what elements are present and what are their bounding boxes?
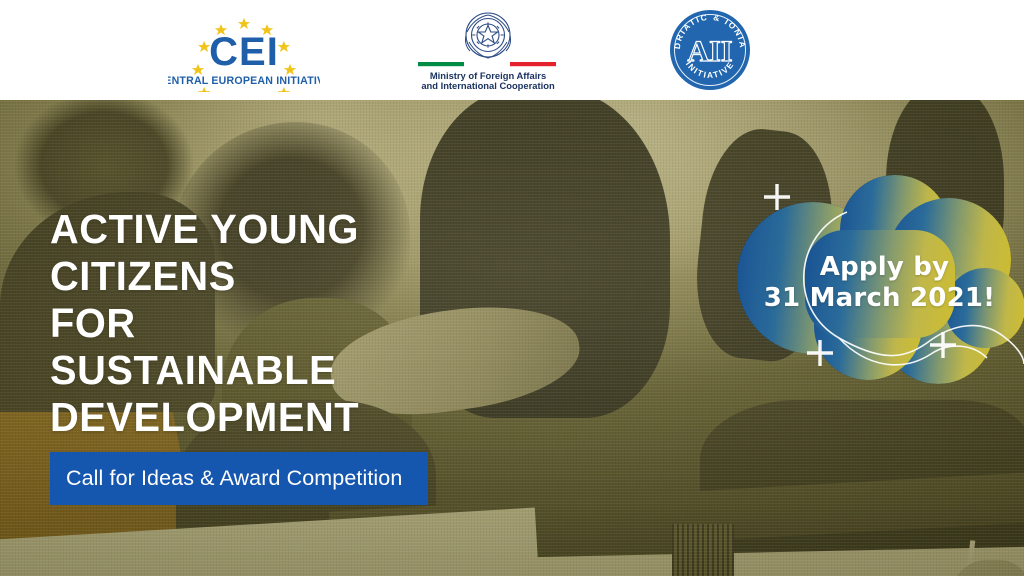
cei-acronym: CEI [209, 30, 279, 74]
adriatic-ionian-initiative-logo: ADRIATIC & IONIAN INITIATIVE AII [655, 0, 765, 100]
cei-logo-graphic: CEI CENTRAL EUROPEAN INITIATIVE [168, 8, 320, 92]
headline-line-2: CITIZENS [50, 253, 359, 300]
italian-republic-emblem [466, 13, 511, 58]
headline-line-4: SUSTAINABLE [50, 347, 359, 394]
ministry-line-2: and International Cooperation [421, 80, 555, 91]
italian-flag-bar [418, 62, 556, 66]
hero-headline: ACTIVE YOUNG CITIZENS FOR SUSTAINABLE DE… [50, 206, 369, 441]
cei-logo: CEI CENTRAL EUROPEAN INITIATIVE [168, 0, 320, 100]
subtitle-bar: Call for Ideas & Award Competition [50, 452, 428, 505]
aii-logo-graphic: ADRIATIC & IONIAN INITIATIVE AII [667, 7, 753, 93]
logo-header: CEI CENTRAL EUROPEAN INITIATIVE [0, 0, 1024, 100]
italian-ministry-logo: Ministry of Foreign Affairs and Internat… [406, 0, 570, 100]
cei-tagline: CENTRAL EUROPEAN INITIATIVE [168, 75, 320, 87]
headline-line-5: DEVELOPMENT [50, 394, 359, 441]
aii-acronym: AII [687, 35, 732, 68]
subtitle-label: Call for Ideas & Award Competition [50, 466, 402, 491]
banner-canvas: ACTIVE YOUNG CITIZENS FOR SUSTAINABLE DE… [0, 0, 1024, 576]
badge-blob-graphic [735, 168, 1024, 398]
apply-by-badge: Apply by 31 March 2021! [735, 168, 1024, 398]
headline-line-1: ACTIVE YOUNG [50, 206, 359, 253]
ministry-logo-graphic: Ministry of Foreign Affairs and Internat… [406, 7, 570, 93]
headline-line-3: FOR [50, 300, 359, 347]
emblem-star [478, 25, 497, 42]
